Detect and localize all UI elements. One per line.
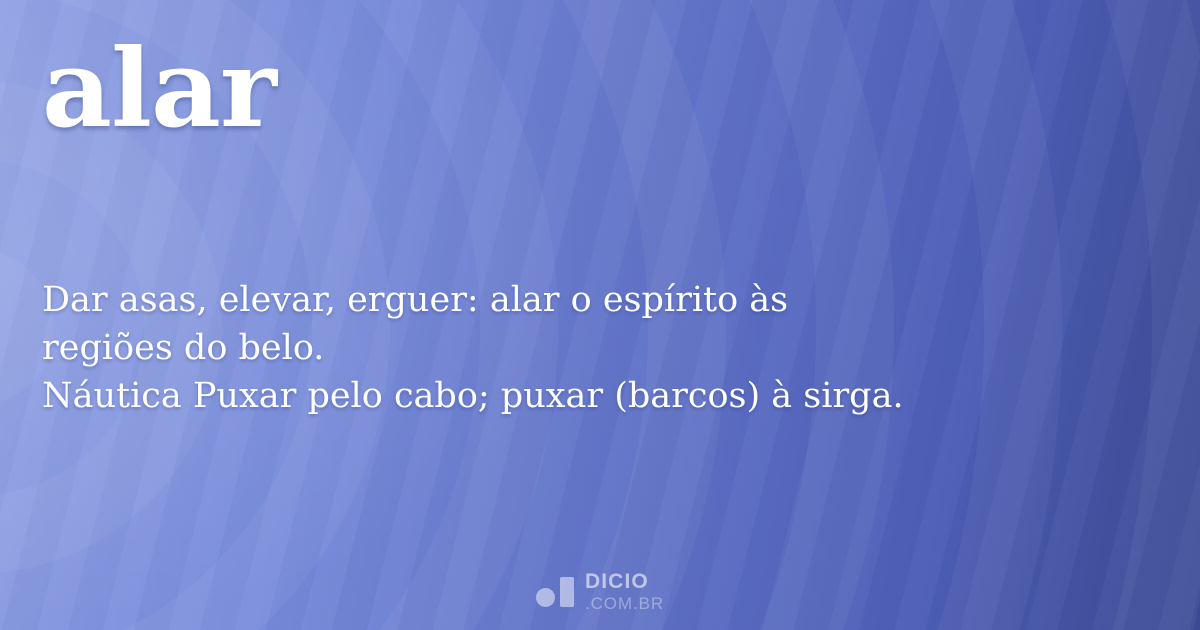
brand-name: DICIO (585, 571, 664, 592)
definition-line: Náutica Puxar pelo cabo; puxar (barcos) … (42, 372, 1172, 420)
headword: alar (42, 26, 276, 153)
definition-line: Dar asas, elevar, erguer: alar o espírit… (42, 276, 1172, 324)
brand-dot-icon (536, 588, 555, 607)
brand-bar-icon (560, 577, 574, 607)
brand-wordmark: DICIO .COM.BR (585, 571, 664, 612)
card-content: alar Dar asas, elevar, erguer: alar o es… (0, 0, 1200, 630)
brand-tld: .COM.BR (585, 595, 664, 612)
brand-logo: DICIO .COM.BR (0, 571, 1200, 612)
word-card: alar Dar asas, elevar, erguer: alar o es… (0, 0, 1200, 630)
definition-line: regiões do belo. (42, 324, 1172, 372)
brand-mark (536, 577, 574, 607)
definition-block: Dar asas, elevar, erguer: alar o espírit… (42, 276, 1172, 420)
